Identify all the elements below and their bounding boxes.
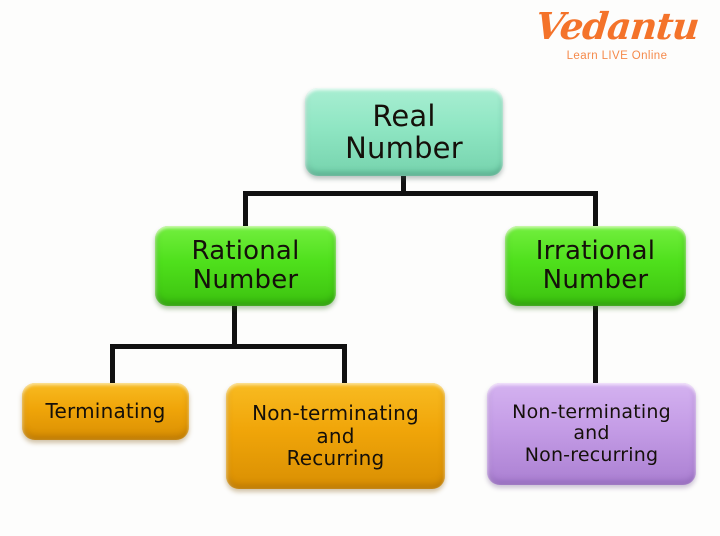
node-non-terminating-non-recurring-label: Non-terminating and Non-recurring	[487, 402, 696, 466]
connector-real-to-rational	[243, 191, 248, 229]
vedantu-logo: Vedantu Learn LIVE Online	[532, 8, 702, 62]
node-non-terminating-recurring-label: Non-terminating and Recurring	[226, 402, 445, 469]
node-real-number[interactable]: Real Number	[305, 88, 503, 176]
logo-tagline: Learn LIVE Online	[532, 50, 702, 62]
node-terminating[interactable]: Terminating	[22, 383, 189, 440]
node-terminating-label: Terminating	[22, 400, 189, 422]
diagram-canvas: Vedantu Learn LIVE Online Real Number Ra…	[0, 0, 720, 536]
node-irrational-number-label: Irrational Number	[505, 237, 686, 295]
connector-real-crossbar	[243, 191, 598, 196]
connector-rational-stem	[232, 304, 237, 348]
node-real-number-label: Real Number	[305, 100, 503, 165]
connector-rational-to-terminating	[110, 344, 115, 386]
node-non-terminating-recurring[interactable]: Non-terminating and Recurring	[226, 383, 445, 489]
connector-rational-crossbar	[110, 344, 347, 349]
connector-irrational-to-nonterm-nonrecurring	[593, 304, 598, 386]
node-rational-number[interactable]: Rational Number	[155, 226, 336, 306]
connector-real-to-irrational	[593, 191, 598, 229]
logo-wordmark: Vedantu	[530, 8, 704, 45]
connector-rational-to-nonterm-recurring	[342, 344, 347, 386]
node-non-terminating-non-recurring[interactable]: Non-terminating and Non-recurring	[487, 383, 696, 485]
node-rational-number-label: Rational Number	[155, 237, 336, 295]
node-irrational-number[interactable]: Irrational Number	[505, 226, 686, 306]
